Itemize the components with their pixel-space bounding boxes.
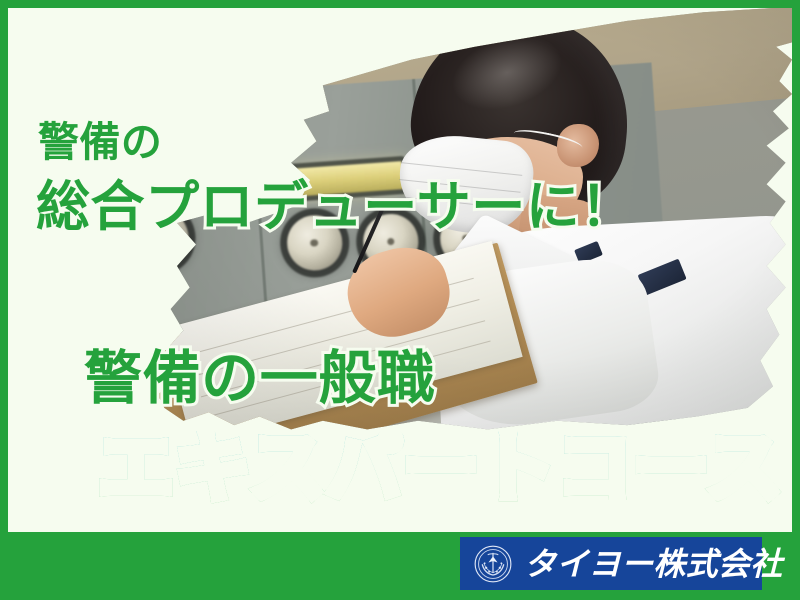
course-title: エキスパートコース	[98, 431, 783, 507]
laurel-wreath-emblem	[474, 545, 512, 583]
company-logo: タイヨー株式会社	[460, 537, 762, 590]
recruitment-banner: 警備の 総合プロデューサーに！ 警備の一般職 エキスパートコース タイヨー株式会…	[0, 0, 800, 600]
company-name: タイヨー株式会社	[524, 548, 783, 580]
headline-line-2: 総合プロデューサーに！	[36, 180, 635, 234]
headline-line-1: 警備の	[38, 122, 162, 163]
headline-line-3: 警備の一般職	[84, 350, 435, 408]
banner-card: 警備の 総合プロデューサーに！ 警備の一般職 エキスパートコース	[8, 8, 792, 532]
